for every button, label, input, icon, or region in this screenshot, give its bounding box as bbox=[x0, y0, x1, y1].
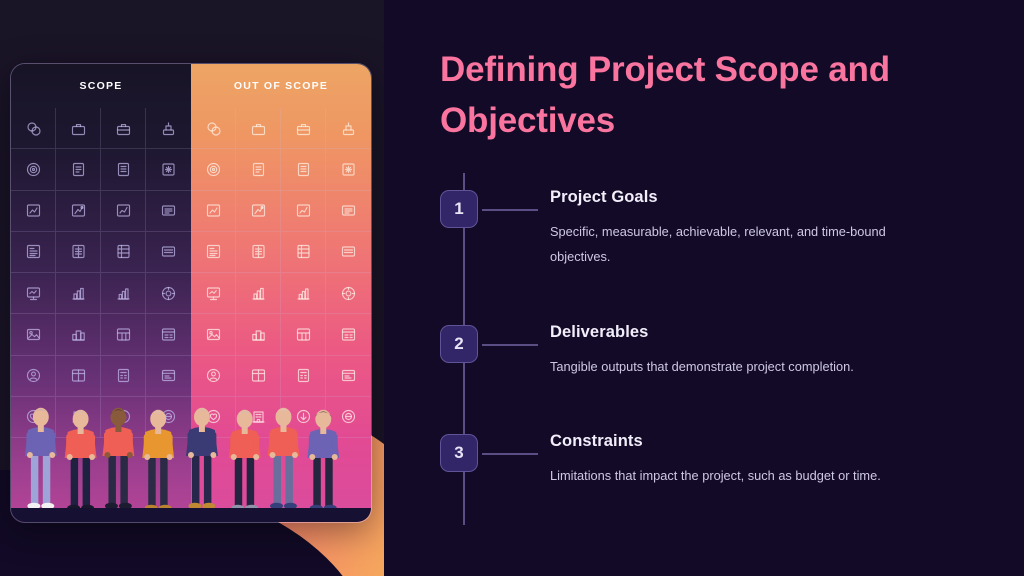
icon-cell bbox=[11, 273, 56, 314]
step-description: Tangible outputs that demonstrate projec… bbox=[550, 355, 932, 380]
icon-cell bbox=[56, 356, 101, 397]
bar-chart-up-icon bbox=[115, 285, 132, 302]
step-title: Deliverables bbox=[550, 323, 1000, 342]
icon-cell bbox=[281, 191, 326, 232]
layout-grid-icon bbox=[115, 326, 132, 343]
icon-cell bbox=[56, 232, 101, 273]
form-window-icon bbox=[160, 326, 177, 343]
report-document-icon bbox=[25, 243, 42, 260]
icon-cell bbox=[146, 191, 191, 232]
data-sheet-icon bbox=[70, 243, 87, 260]
icon-cell bbox=[56, 149, 101, 190]
icon-cell bbox=[146, 149, 191, 190]
step-title: Constraints bbox=[550, 432, 1000, 451]
line-chart-icon bbox=[250, 202, 267, 219]
icon-cell bbox=[326, 191, 371, 232]
icon-cell bbox=[236, 356, 281, 397]
icon-cell bbox=[101, 191, 146, 232]
person-4 bbox=[142, 410, 174, 512]
spreadsheet-icon bbox=[115, 243, 132, 260]
calculator-icon bbox=[295, 367, 312, 384]
illustration-floor bbox=[11, 508, 371, 522]
bar-growth-icon bbox=[70, 285, 87, 302]
image-frame-icon bbox=[205, 326, 222, 343]
user-circle-icon bbox=[205, 367, 222, 384]
icon-cell bbox=[281, 273, 326, 314]
icon-cell bbox=[191, 356, 236, 397]
ledger-icon bbox=[160, 243, 177, 260]
printer-icon bbox=[160, 120, 177, 137]
growth-chart-icon bbox=[115, 202, 132, 219]
icon-cell bbox=[281, 149, 326, 190]
icon-cell bbox=[146, 356, 191, 397]
icon-cell bbox=[191, 191, 236, 232]
out-of-scope-column-header: OUT OF SCOPE bbox=[191, 64, 371, 108]
icon-cell bbox=[146, 273, 191, 314]
snowflake-box-icon bbox=[340, 161, 357, 178]
scope-icon-grid bbox=[11, 108, 191, 438]
step-number-badge: 2 bbox=[440, 325, 478, 363]
team-people-illustration bbox=[11, 392, 371, 522]
icon-cell bbox=[281, 108, 326, 149]
browser-window-icon bbox=[340, 367, 357, 384]
person-3 bbox=[102, 408, 134, 510]
icon-cell bbox=[326, 314, 371, 355]
icon-cell bbox=[191, 108, 236, 149]
presentation-icon bbox=[205, 285, 222, 302]
podium-icon bbox=[250, 326, 267, 343]
printer-icon bbox=[340, 120, 357, 137]
icon-cell bbox=[101, 108, 146, 149]
growth-chart-icon bbox=[295, 202, 312, 219]
data-sheet-icon bbox=[250, 243, 267, 260]
presentation-icon bbox=[25, 285, 42, 302]
gear-target-icon bbox=[160, 285, 177, 302]
person-5 bbox=[186, 408, 218, 510]
icon-cell bbox=[101, 273, 146, 314]
step-body: Constraints Limitations that impact the … bbox=[550, 432, 1000, 489]
icon-cell bbox=[56, 191, 101, 232]
step-description: Specific, measurable, achievable, releva… bbox=[550, 220, 932, 270]
icon-cell bbox=[191, 149, 236, 190]
icon-cell bbox=[326, 108, 371, 149]
document-lines-icon bbox=[70, 161, 87, 178]
step-title: Project Goals bbox=[550, 188, 1000, 207]
chain-link-icon bbox=[25, 120, 42, 137]
chain-link-icon bbox=[205, 120, 222, 137]
columns-icon bbox=[250, 367, 267, 384]
document-text-icon bbox=[115, 161, 132, 178]
icon-cell bbox=[101, 356, 146, 397]
icon-cell bbox=[11, 108, 56, 149]
step-connector-line bbox=[482, 344, 538, 346]
target-circle-icon bbox=[25, 161, 42, 178]
icon-cell bbox=[236, 191, 281, 232]
browser-window-icon bbox=[160, 367, 177, 384]
scope-comparison-card: SCOPE OUT OF SCOPE bbox=[10, 63, 372, 523]
icon-cell bbox=[56, 314, 101, 355]
icon-cell bbox=[56, 273, 101, 314]
icon-cell bbox=[11, 232, 56, 273]
icon-cell bbox=[11, 149, 56, 190]
user-circle-icon bbox=[25, 367, 42, 384]
text-block-icon bbox=[340, 202, 357, 219]
icon-cell bbox=[281, 232, 326, 273]
text-block-icon bbox=[160, 202, 177, 219]
icon-cell bbox=[236, 232, 281, 273]
out-of-scope-icon-grid bbox=[191, 108, 371, 438]
icon-cell bbox=[11, 191, 56, 232]
report-document-icon bbox=[205, 243, 222, 260]
step-connector-line bbox=[482, 453, 538, 455]
icon-cell bbox=[281, 314, 326, 355]
step-body: Project Goals Specific, measurable, achi… bbox=[550, 188, 1000, 270]
document-text-icon bbox=[295, 161, 312, 178]
person-7 bbox=[268, 408, 300, 510]
left-visual-panel: SCOPE OUT OF SCOPE bbox=[0, 0, 384, 576]
icon-cell bbox=[146, 232, 191, 273]
snowflake-box-icon bbox=[160, 161, 177, 178]
gear-target-icon bbox=[340, 285, 357, 302]
target-circle-icon bbox=[205, 161, 222, 178]
step-number-badge: 1 bbox=[440, 190, 478, 228]
icon-cell bbox=[146, 108, 191, 149]
columns-icon bbox=[70, 367, 87, 384]
icon-cell bbox=[101, 314, 146, 355]
icon-cell bbox=[281, 356, 326, 397]
step-number-badge: 3 bbox=[440, 434, 478, 472]
content-panel: Defining Project Scope and Objectives 1 … bbox=[384, 0, 1024, 576]
icon-cell bbox=[101, 232, 146, 273]
form-window-icon bbox=[340, 326, 357, 343]
icon-cell bbox=[236, 314, 281, 355]
briefcase-icon bbox=[250, 120, 267, 137]
step-description: Limitations that impact the project, suc… bbox=[550, 464, 932, 489]
scope-column-header: SCOPE bbox=[11, 64, 191, 108]
icon-cell bbox=[11, 356, 56, 397]
spreadsheet-icon bbox=[295, 243, 312, 260]
calculator-icon bbox=[115, 367, 132, 384]
icon-cell bbox=[191, 232, 236, 273]
document-lines-icon bbox=[250, 161, 267, 178]
icon-cell bbox=[326, 356, 371, 397]
person-6 bbox=[229, 410, 261, 512]
icon-cell bbox=[236, 108, 281, 149]
person-8 bbox=[307, 410, 339, 512]
person-1 bbox=[25, 408, 57, 510]
bar-chart-up-icon bbox=[295, 285, 312, 302]
icon-cell bbox=[236, 273, 281, 314]
person-2 bbox=[65, 410, 97, 512]
layout-grid-icon bbox=[295, 326, 312, 343]
podium-icon bbox=[70, 326, 87, 343]
bar-growth-icon bbox=[250, 285, 267, 302]
briefcase-alt-icon bbox=[115, 120, 132, 137]
icon-cell bbox=[326, 149, 371, 190]
icon-cell bbox=[191, 273, 236, 314]
icon-cell bbox=[236, 149, 281, 190]
people-group-svg bbox=[11, 392, 371, 522]
line-chart-icon bbox=[70, 202, 87, 219]
chart-window-icon bbox=[25, 202, 42, 219]
step-body: Deliverables Tangible outputs that demon… bbox=[550, 323, 1000, 380]
icon-cell bbox=[11, 314, 56, 355]
icon-cell bbox=[101, 149, 146, 190]
icon-cell bbox=[326, 273, 371, 314]
ledger-icon bbox=[340, 243, 357, 260]
image-frame-icon bbox=[25, 326, 42, 343]
icon-cell bbox=[191, 314, 236, 355]
icon-cell bbox=[146, 314, 191, 355]
icon-cell bbox=[56, 108, 101, 149]
page-title: Defining Project Scope and Objectives bbox=[440, 44, 940, 147]
briefcase-icon bbox=[70, 120, 87, 137]
chart-window-icon bbox=[205, 202, 222, 219]
icon-cell bbox=[326, 232, 371, 273]
step-connector-line bbox=[482, 209, 538, 211]
briefcase-alt-icon bbox=[295, 120, 312, 137]
presentation-slide: SCOPE OUT OF SCOPE Defining Project Scop… bbox=[0, 0, 1024, 576]
